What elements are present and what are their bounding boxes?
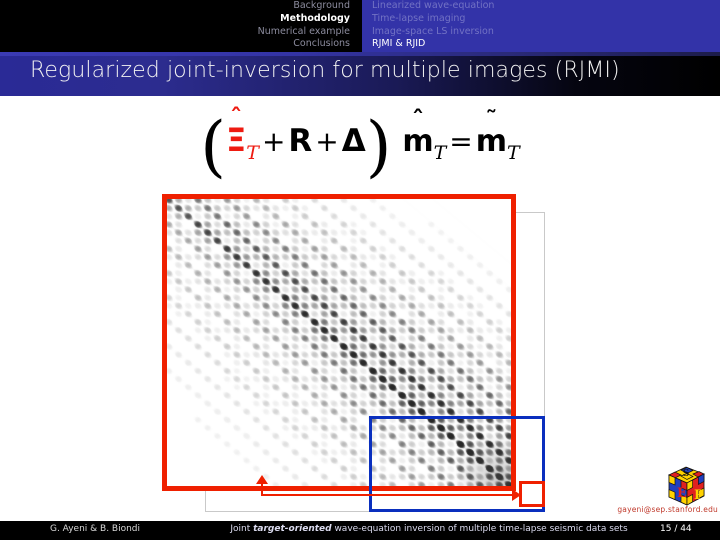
red-arrow-up-head-icon xyxy=(256,475,268,484)
equation-r-symbol: R xyxy=(288,123,312,159)
equation-m-hat-subscript: T xyxy=(434,142,447,164)
equation-open-paren: ( xyxy=(200,108,226,185)
equation-m-tilde-accent: ˜ xyxy=(485,106,497,134)
nav-subsection-list: Linearized wave-equation Time-lapse imag… xyxy=(372,0,632,51)
nav-item-image-space-ls-inversion[interactable]: Image-space LS inversion xyxy=(372,26,632,39)
equation-m-tilde-subscript: T xyxy=(507,142,520,164)
nav-item-rjmi-rjid[interactable]: RJMI & RJID xyxy=(372,38,632,51)
nav-item-methodology[interactable]: Methodology xyxy=(180,13,350,26)
nav-item-numerical-example[interactable]: Numerical example xyxy=(180,26,350,39)
slide-root: Background Methodology Numerical example… xyxy=(0,0,720,540)
equation-close-paren: ) xyxy=(366,108,392,185)
sep-cube-logo: S E P xyxy=(660,463,714,511)
equation-m-tilde: ˜m xyxy=(476,124,507,159)
nav-item-conclusions[interactable]: Conclusions xyxy=(180,38,350,51)
red-arrow-right-head-icon xyxy=(512,489,521,501)
svg-text:P: P xyxy=(694,488,704,503)
title-bar-accent-strip xyxy=(0,52,720,56)
nav-section-list: Background Methodology Numerical example… xyxy=(180,0,350,51)
equation-delta-symbol: Δ xyxy=(342,123,366,159)
footer-presentation-title: Joint target-oriented wave-equation inve… xyxy=(204,524,654,534)
equation-xi-subscript: T xyxy=(246,142,259,164)
page-title: Regularized joint-inversion for multiple… xyxy=(30,58,710,83)
equation-m-hat-accent: ˆ xyxy=(412,106,424,134)
footer-title-prefix: Joint xyxy=(230,524,253,534)
nav-item-linearized-wave-equation[interactable]: Linearized wave-equation xyxy=(372,0,632,13)
footer-page-number: 15 / 44 xyxy=(660,524,718,534)
nav-item-background[interactable]: Background xyxy=(180,0,350,13)
sep-cube-icon: S E P xyxy=(660,463,714,511)
red-corner-box xyxy=(519,481,545,507)
svg-text:E: E xyxy=(677,486,687,501)
contact-email[interactable]: gayeni@sep.stanford.edu xyxy=(617,505,718,514)
footer-authors: G. Ayeni & B. Biondi xyxy=(0,524,190,534)
footer-title-emphasis: target-oriented xyxy=(253,524,331,534)
equation-plus-1: + xyxy=(259,125,288,158)
equation-equals: = xyxy=(446,125,475,158)
equation-block: (ˆΞT+R+Δ) ˆmT=˜mT xyxy=(0,108,720,185)
equation-xi-hat-accent: ˆ xyxy=(230,104,242,132)
nav-item-time-lapse-imaging[interactable]: Time-lapse imaging xyxy=(372,13,632,26)
operator-matrix-figure xyxy=(150,185,570,520)
svg-text:S: S xyxy=(683,469,690,479)
equation-plus-2: + xyxy=(312,125,341,158)
equation-xi-operator: ˆΞ xyxy=(226,121,246,159)
equation-m-hat: ˆm xyxy=(402,124,433,159)
footer-title-suffix: wave-equation inversion of multiple time… xyxy=(332,524,628,534)
red-arrow-line xyxy=(261,494,521,496)
